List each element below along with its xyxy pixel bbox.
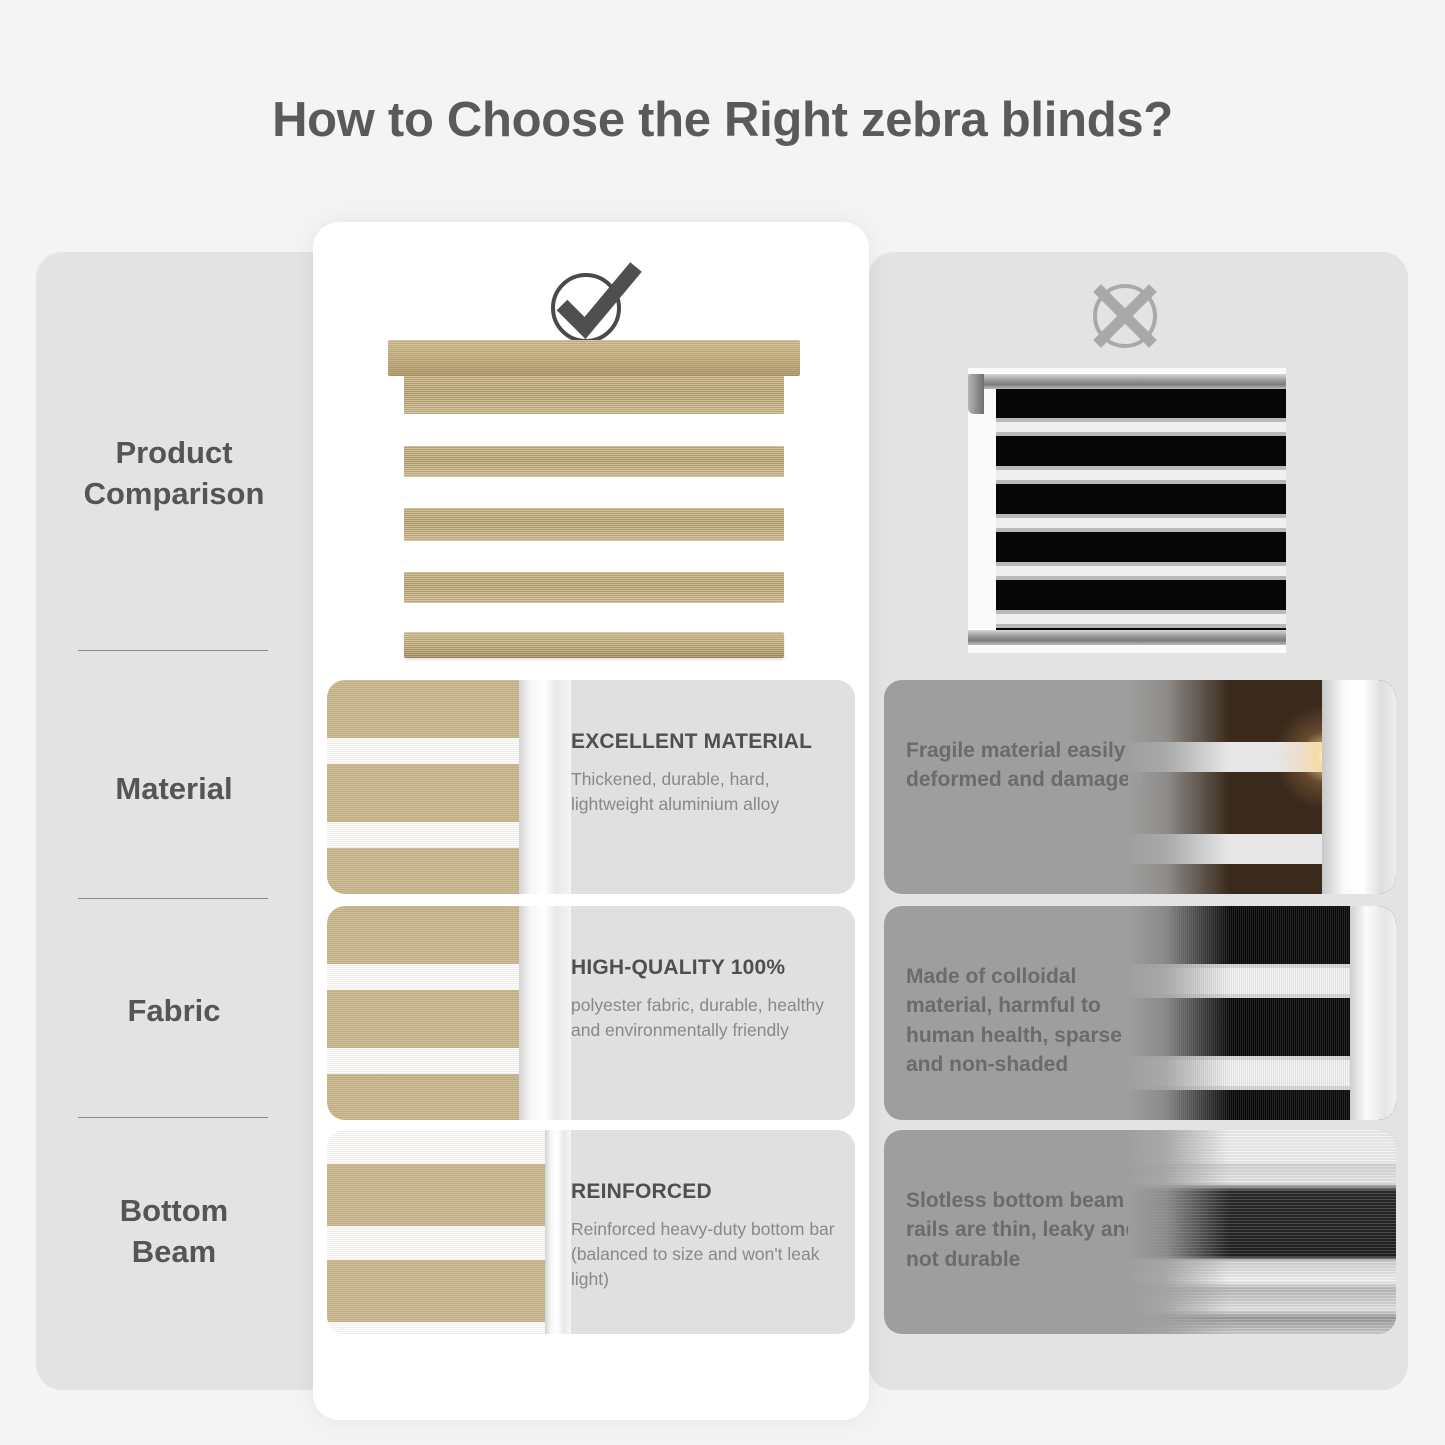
blind-headrail <box>968 374 1286 389</box>
photo-fade-overlay <box>1128 906 1396 1120</box>
row-label-line-1: Product <box>56 432 292 473</box>
feature-card-good-material: EXCELLENT MATERIAL Thickened, durable, h… <box>327 680 855 894</box>
feature-card-bad-fabric: Made of colloidal material, harmful to h… <box>884 906 1396 1120</box>
zebra-blind-closeup <box>327 680 523 894</box>
photo-fade-overlay <box>1128 680 1396 894</box>
row-label-bottom-beam: Bottom Beam <box>56 1190 292 1272</box>
feature-text-bad: Fragile material easily deformed and dam… <box>906 736 1146 795</box>
row-label-line-2: Beam <box>56 1231 292 1272</box>
blind-slat <box>404 572 784 603</box>
feature-text-bad: Made of colloidal material, harmful to h… <box>906 962 1146 1080</box>
feature-photo-bad-fabric <box>1128 906 1396 1120</box>
blind-end-cap <box>968 374 984 414</box>
row-divider <box>78 898 268 899</box>
blind-bottom-bar <box>968 630 1286 645</box>
row-label-product-comparison: Product Comparison <box>56 432 292 514</box>
check-circle-icon <box>540 258 648 348</box>
feature-photo-good-material <box>327 680 571 894</box>
feature-text-bad: Slotless bottom beam rails are thin, lea… <box>906 1186 1146 1274</box>
row-divider <box>78 1117 268 1118</box>
feature-card-good-fabric: HIGH-QUALITY 100% polyester fabric, dura… <box>327 906 855 1120</box>
feature-heading: REINFORCED <box>571 1180 841 1204</box>
feature-heading: EXCELLENT MATERIAL <box>571 730 841 754</box>
hero-image-bad-blind <box>968 368 1286 653</box>
feature-text-block: HIGH-QUALITY 100% polyester fabric, dura… <box>571 956 841 1043</box>
photo-fade-overlay <box>1128 1130 1396 1334</box>
window-frame <box>545 1130 571 1334</box>
comparison-board: Product Comparison Material Fabric Botto… <box>0 0 1445 1445</box>
feature-text-block: EXCELLENT MATERIAL Thickened, durable, h… <box>571 730 841 817</box>
feature-photo-good-fabric <box>327 906 571 1120</box>
row-label-material: Material <box>56 768 292 809</box>
blind-slat <box>404 376 784 414</box>
row-label-line-2: Comparison <box>56 473 292 514</box>
feature-description: Thickened, durable, hard, lightweight al… <box>571 767 841 817</box>
row-divider <box>78 650 268 651</box>
feature-description: Reinforced heavy-duty bottom bar (balanc… <box>571 1217 841 1292</box>
blind-headrail <box>388 340 800 376</box>
feature-description: polyester fabric, durable, healthy and e… <box>571 993 841 1043</box>
hero-image-good-blind <box>388 340 800 665</box>
row-label-fabric: Fabric <box>56 990 292 1031</box>
row-label-line-1: Bottom <box>56 1190 292 1231</box>
window-frame <box>519 906 571 1120</box>
zebra-blind-closeup <box>327 906 523 1120</box>
feature-card-bad-bottom-beam: Slotless bottom beam rails are thin, lea… <box>884 1130 1396 1334</box>
feature-card-bad-material: Fragile material easily deformed and dam… <box>884 680 1396 894</box>
feature-heading: HIGH-QUALITY 100% <box>571 956 841 980</box>
blind-fabric <box>996 389 1286 630</box>
blind-slat <box>404 508 784 541</box>
feature-photo-bad-bottom-beam <box>1128 1130 1396 1334</box>
blind-bottom-bar <box>404 632 784 658</box>
bottom-beam-closeup <box>327 1130 547 1334</box>
feature-photo-bad-material <box>1128 680 1396 894</box>
feature-card-good-bottom-beam: REINFORCED Reinforced heavy-duty bottom … <box>327 1130 855 1334</box>
feature-photo-good-bottom-beam <box>327 1130 571 1334</box>
feature-text-block: REINFORCED Reinforced heavy-duty bottom … <box>571 1180 841 1292</box>
cross-circle-icon <box>1085 276 1165 356</box>
blind-slat <box>404 446 784 477</box>
window-frame <box>519 680 571 894</box>
